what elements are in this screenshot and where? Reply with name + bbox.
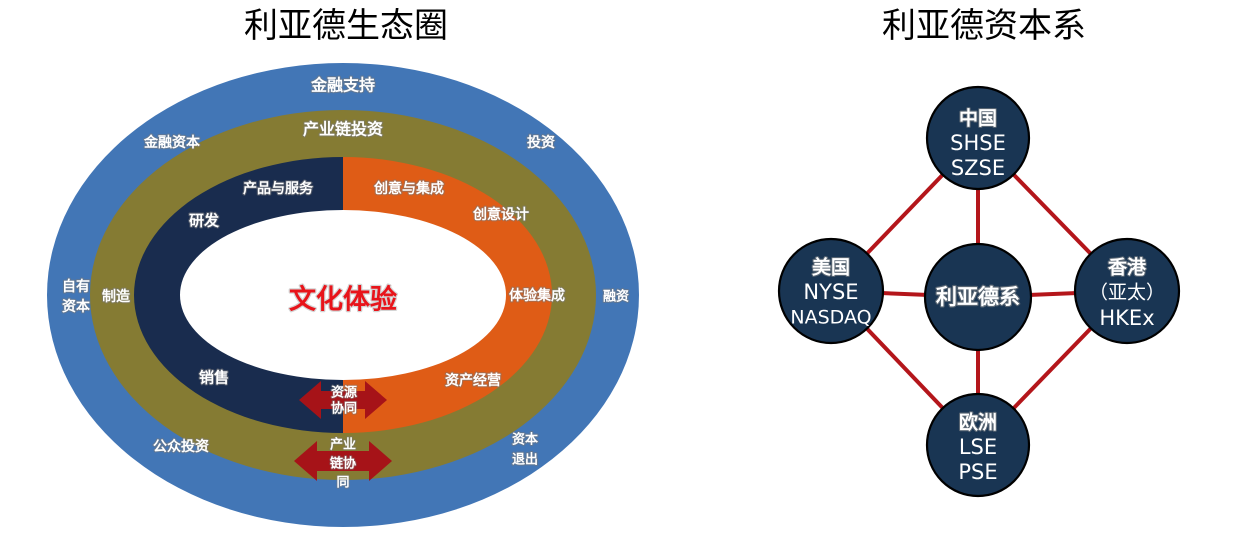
node-europe[interactable]: 欧洲 LSE PSE <box>927 394 1029 496</box>
node-usa-en2: NASDAQ <box>790 307 871 329</box>
label-middle-upper-right: 创意设计 <box>472 206 529 223</box>
label-inner-left-lower: 销售 <box>199 369 229 387</box>
label-outer-lower-right-line1: 资本 <box>512 432 538 448</box>
label-inner-top-right: 创意与集成 <box>373 180 444 197</box>
node-china-en2: SZSE <box>951 156 1005 180</box>
node-europe-cn: 欧洲 <box>959 411 997 434</box>
node-hongkong[interactable]: 香港 （亚太） HKEx <box>1075 239 1179 343</box>
node-liyade-center[interactable]: 利亚德系 <box>925 244 1031 350</box>
node-europe-en2: PSE <box>958 460 997 484</box>
node-hk-en2: HKEx <box>1099 306 1154 330</box>
label-outer-lower-right-line2: 退出 <box>512 452 538 468</box>
label-middle-top: 产业链投资 <box>303 120 383 139</box>
node-usa[interactable]: 美国 NYSE NASDAQ <box>779 239 883 343</box>
capital-panel: 利亚德资本系 中国 SHSE SZSE 美国 NYSE NASDAQ <box>700 0 1248 546</box>
label-outer-top: 金融支持 <box>310 76 375 95</box>
node-usa-en1: NYSE <box>803 280 858 304</box>
arrow1-line2: 协同 <box>331 401 357 417</box>
node-china[interactable]: 中国 SHSE SZSE <box>927 87 1029 189</box>
label-outer-upper-right: 投资 <box>527 134 555 151</box>
label-inner-top-left: 产品与服务 <box>243 180 314 197</box>
label-middle-left: 制造 <box>102 288 130 305</box>
arrow2-line2: 链协 <box>329 456 356 472</box>
arrow2-line3: 同 <box>336 476 349 491</box>
label-inner-left-upper: 研发 <box>189 212 220 230</box>
node-europe-en1: LSE <box>959 435 997 459</box>
ecosystem-panel: 利亚德生态圈 金融支持 金融资本 <box>0 0 700 546</box>
label-outer-lower-left: 公众投资 <box>153 438 209 455</box>
label-middle-lower-right: 资产经营 <box>445 372 501 389</box>
node-china-en1: SHSE <box>950 131 1006 155</box>
label-outer-left-line2: 资本 <box>62 298 91 315</box>
node-hk-cn: 香港 <box>1107 257 1147 279</box>
label-outer-upper-left: 金融资本 <box>143 134 201 151</box>
label-inner-right: 体验集成 <box>509 287 565 304</box>
center-hub-label: 文化体验 <box>289 284 397 316</box>
label-outer-left-line1: 自有 <box>62 278 90 295</box>
node-hk-en1: （亚太） <box>1089 282 1165 304</box>
capital-network-diagram: 中国 SHSE SZSE 美国 NYSE NASDAQ 利亚德系 香港 （亚太）… <box>700 0 1248 546</box>
arrow1-line1: 资源 <box>331 385 357 401</box>
node-china-cn: 中国 <box>959 107 997 130</box>
label-outer-right: 融资 <box>603 289 629 305</box>
node-usa-cn: 美国 <box>812 256 850 279</box>
ecosystem-diagram: 金融支持 金融资本 投资 自有 资本 融资 公众投资 资本 退出 产业链投资 制… <box>0 0 700 546</box>
node-center-label: 利亚德系 <box>936 285 1020 309</box>
arrow2-line1: 产业 <box>330 437 356 453</box>
